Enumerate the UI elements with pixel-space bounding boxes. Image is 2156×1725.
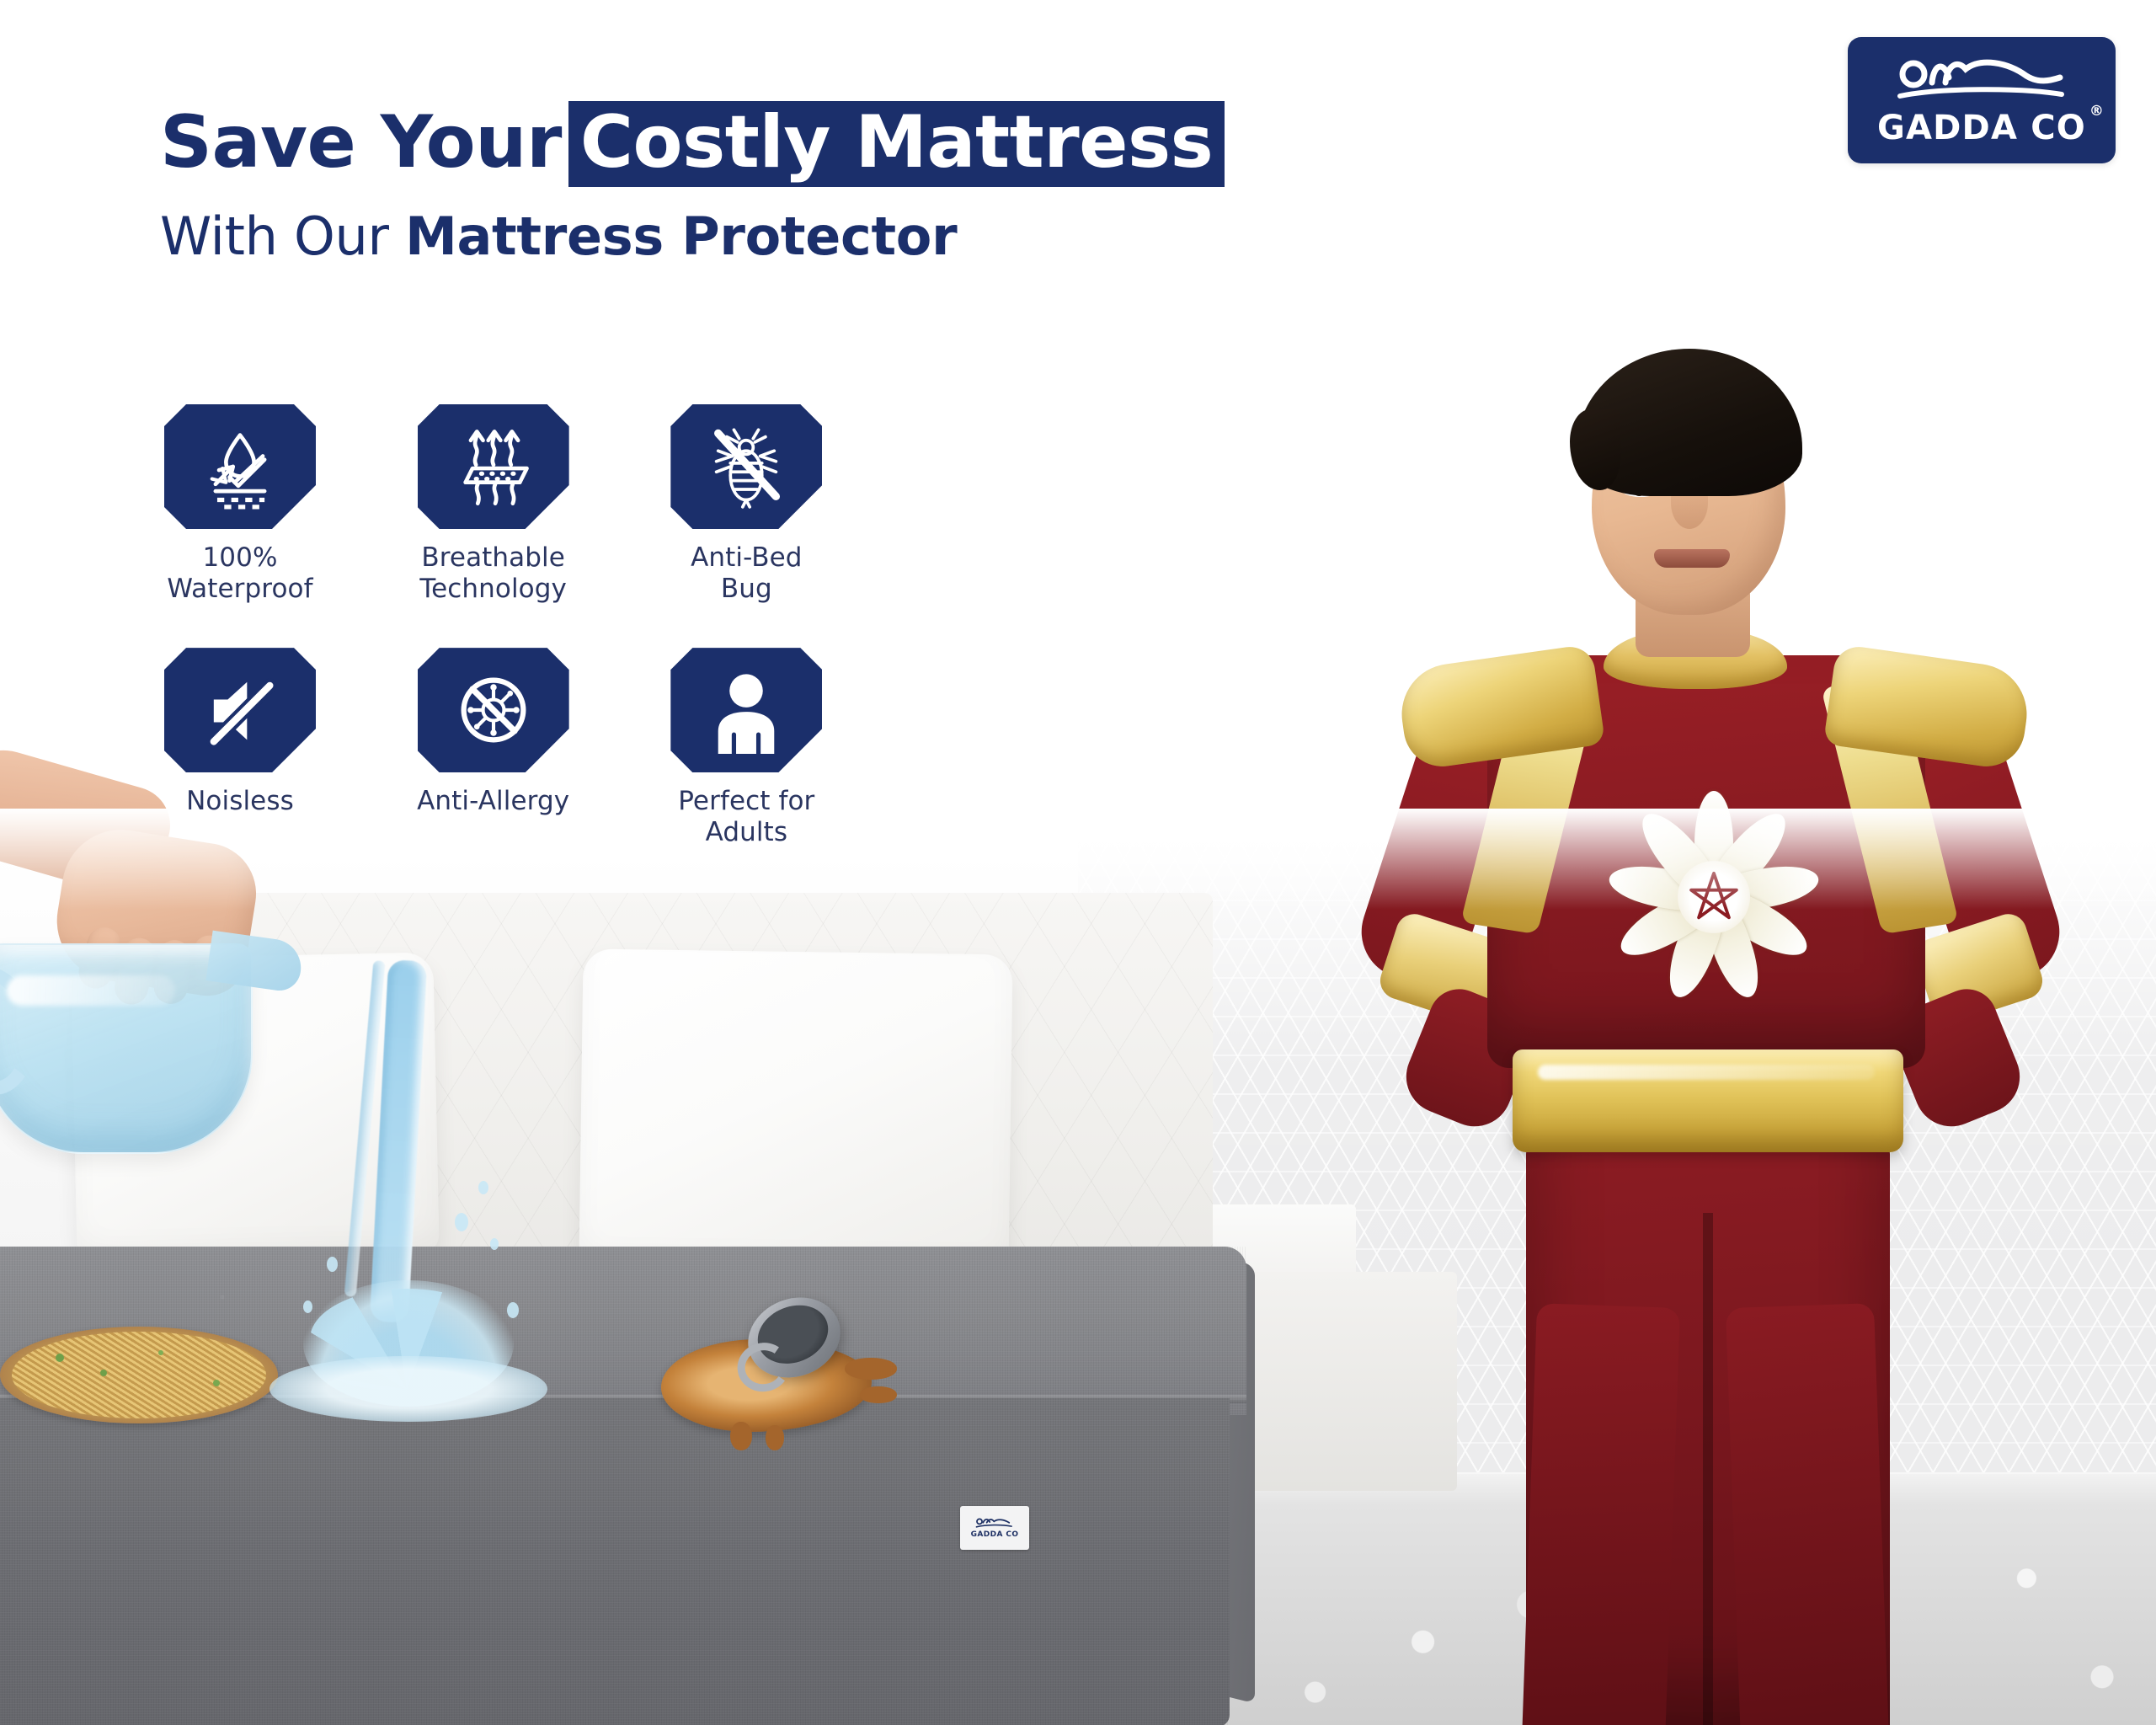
- headline-highlighted-text: Costly Mattress: [568, 101, 1225, 187]
- water-droplet: [303, 1300, 312, 1313]
- water-pool: [269, 1356, 547, 1422]
- feature-label: Perfect for Adults: [678, 786, 814, 847]
- feature-badge: [670, 648, 822, 772]
- water-droplet: [490, 1238, 499, 1250]
- pillow-right: [579, 948, 1012, 1274]
- pitcher-highlight: [7, 975, 175, 1006]
- logo-text: GADDA CO®: [1877, 111, 2086, 145]
- mattress-brand-tag: GADDA CO: [960, 1506, 1029, 1550]
- feature-item-perfect-for-adults: Perfect for Adults: [666, 648, 826, 847]
- sleeping-person-on-mattress-icon: [1893, 56, 2070, 108]
- registered-mark: ®: [2089, 104, 2105, 119]
- mascot-hair: [1577, 349, 1802, 496]
- coffee-splat: [766, 1425, 784, 1450]
- mattress-tag-label: GADDA CO: [971, 1530, 1019, 1539]
- muted-speaker-icon: [196, 666, 284, 754]
- feature-label: Noisless: [186, 786, 294, 817]
- feature-badge: [164, 404, 316, 529]
- water-droplet: [478, 1181, 488, 1194]
- waterproof-droplet-icon: [196, 423, 284, 510]
- feature-badge: [418, 648, 569, 772]
- headline-block: Save YourCostly Mattress With Our Mattre…: [160, 101, 1508, 267]
- coffee-spill: [653, 1314, 905, 1453]
- water-droplet: [455, 1213, 468, 1231]
- mattress-front-face: [0, 1398, 1230, 1725]
- feature-label: Anti-Bed Bug: [691, 542, 803, 604]
- bed-bug-blocked-icon: [702, 423, 790, 510]
- superhero-mascot: [1314, 312, 2105, 1725]
- feature-badge: [164, 648, 316, 772]
- mascot-leg-left: [1522, 1303, 1680, 1725]
- feature-item-noisless: Noisless: [160, 648, 320, 847]
- advertisement-canvas: GADDA CO: [0, 0, 2156, 1725]
- protector-fabric-texture-front: [0, 1398, 1230, 1725]
- breathable-airflow-icon: [450, 423, 537, 510]
- feature-item-anti-bed-bug: Anti-Bed Bug: [666, 404, 826, 604]
- sleeping-person-on-mattress-icon: [975, 1517, 1014, 1530]
- subtitle-light-text: With Our: [160, 206, 389, 267]
- feature-label: Breathable Technology: [419, 542, 567, 604]
- headline-plain-text: Save Your: [160, 100, 562, 184]
- brand-logo[interactable]: GADDA CO®: [1848, 37, 2116, 163]
- feature-list: 100% Waterproof: [160, 404, 901, 847]
- coffee-splat: [845, 1358, 897, 1380]
- coffee-splat: [730, 1422, 752, 1450]
- mascot-belt: [1513, 1049, 1903, 1152]
- feature-label: Anti-Allergy: [417, 786, 569, 817]
- feature-item-waterproof: 100% Waterproof: [160, 404, 320, 604]
- feature-item-anti-allergy: Anti-Allergy: [414, 648, 574, 847]
- page-subtitle: With Our Mattress Protector: [160, 206, 1508, 267]
- mascot-mouth: [1654, 549, 1730, 568]
- feature-badge: [418, 404, 569, 529]
- coffee-splat: [860, 1386, 897, 1403]
- allergen-blocked-icon: [450, 666, 537, 754]
- page-title: Save YourCostly Mattress: [160, 101, 1508, 187]
- feature-badge: [670, 404, 822, 529]
- logo-brand-name: GADDA CO: [1877, 109, 2086, 147]
- belt-highlight: [1538, 1065, 1875, 1080]
- adult-person-icon: [702, 666, 790, 754]
- lotus-star-emblem: [1600, 783, 1828, 1011]
- mattress-with-protector: [0, 1247, 1280, 1725]
- subtitle-bold-text: Mattress Protector: [405, 206, 957, 267]
- water-droplet: [507, 1302, 519, 1318]
- feature-label: 100% Waterproof: [167, 542, 312, 604]
- mascot-leg-right: [1726, 1303, 1889, 1725]
- emblem-star-icon: [1687, 870, 1741, 924]
- food-spill: [0, 1327, 278, 1423]
- feature-item-breathable: Breathable Technology: [414, 404, 574, 604]
